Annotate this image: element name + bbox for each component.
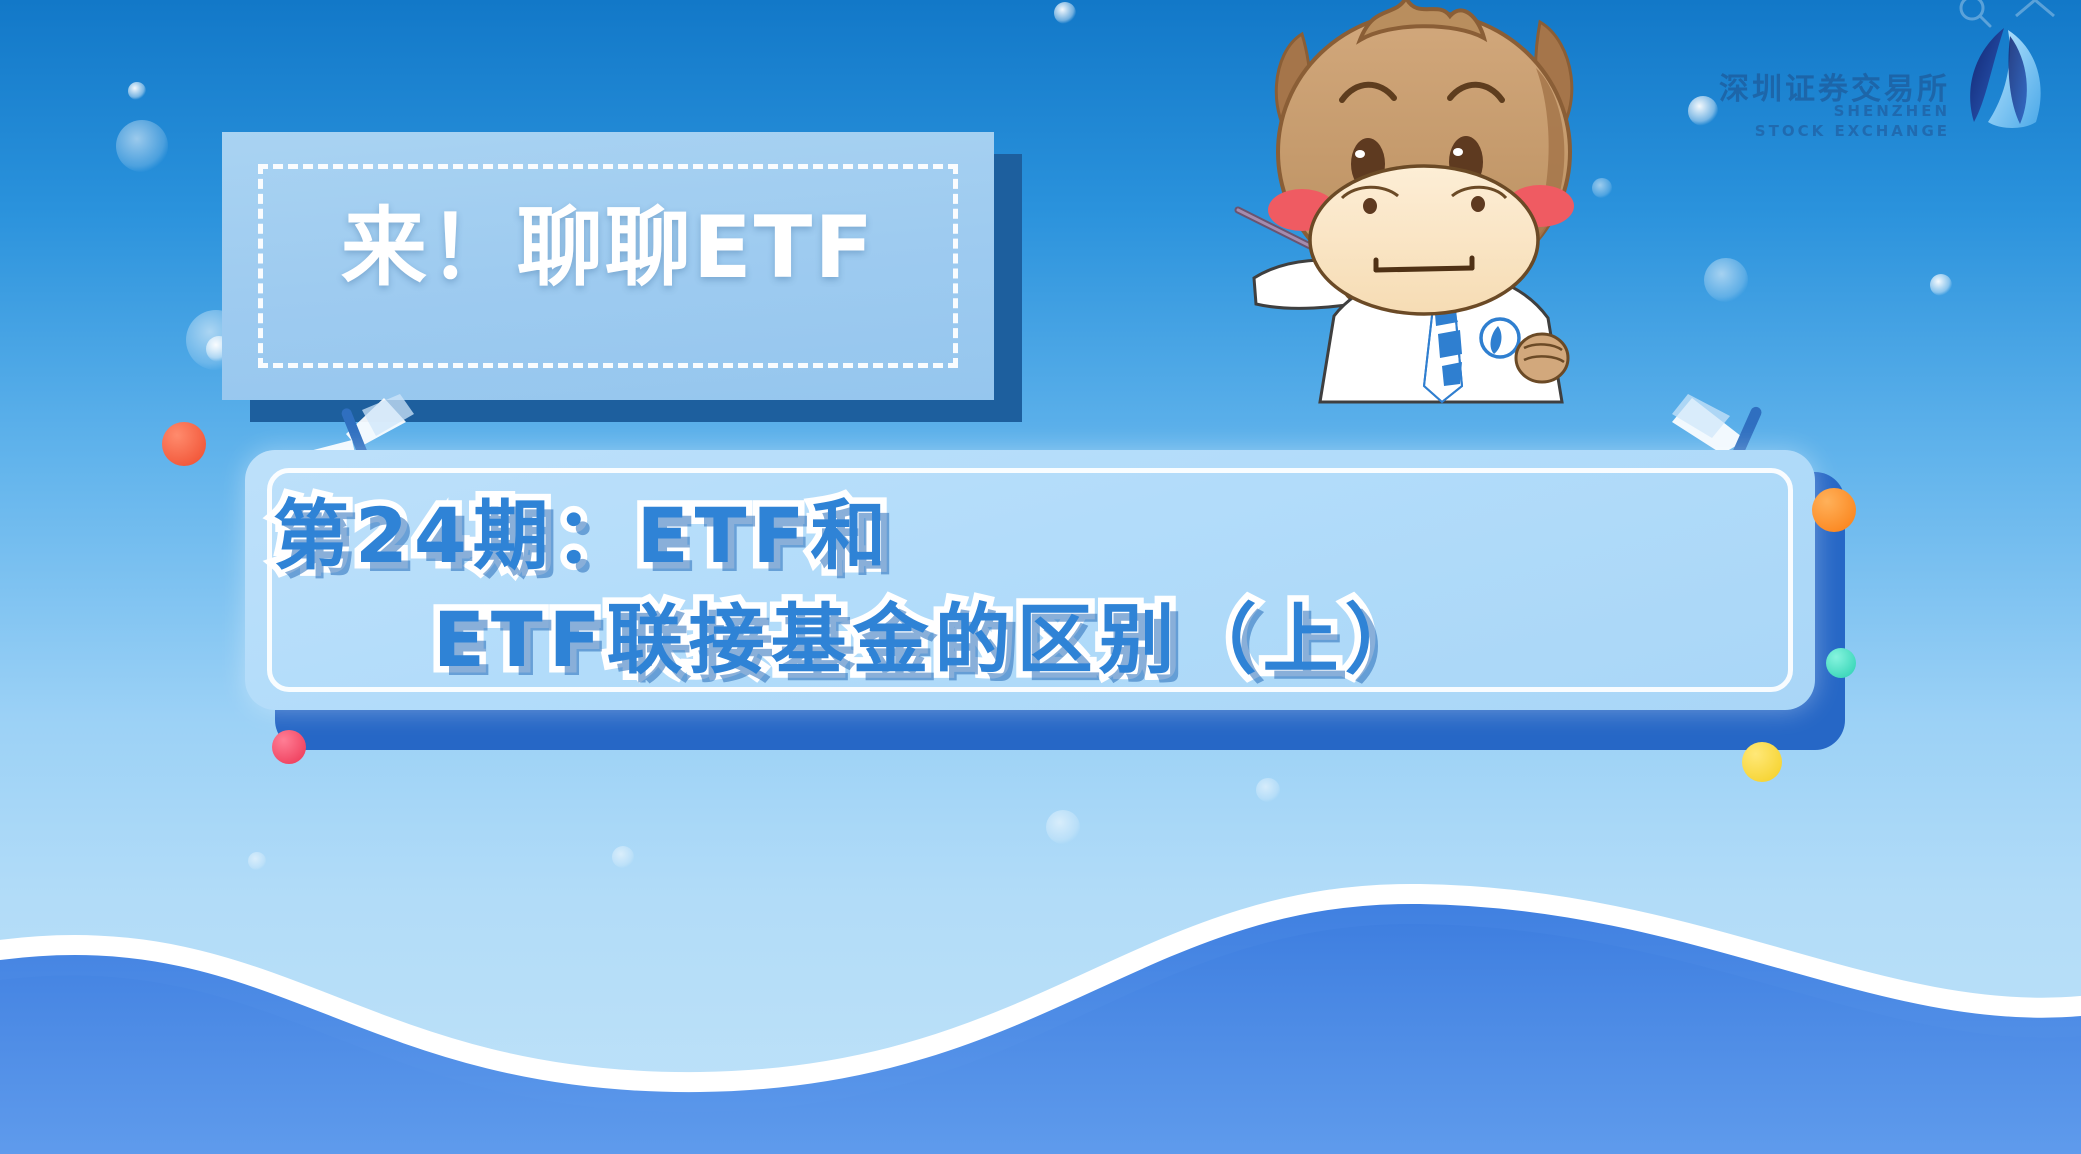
logo-english-line1: SHENZHEN (1700, 102, 1950, 120)
episode-title-line-2: ETF联接基金的区别（上） (433, 578, 1427, 688)
episode-title-line-1: 第24期：ETF和 (273, 474, 892, 584)
mascot-badge (1481, 319, 1519, 357)
speech-bubble: 来！聊聊ETF (222, 132, 1022, 432)
episode-title-card: 第24期：ETF和 ETF联接基金的区别（上） (245, 450, 1845, 750)
logo-leaf-mark (1958, 26, 2050, 138)
decor-dot-right-orange (1812, 488, 1856, 532)
shenzhen-stock-exchange-logo: 深圳证券交易所 SHENZHEN STOCK EXCHANGE (1700, 22, 2060, 142)
mascot-right-hand (1516, 334, 1568, 382)
speech-bubble-text: 来！聊聊ETF (222, 178, 994, 318)
decor-dot-bottom-left-pink (272, 730, 306, 764)
bokeh-bubble (1256, 778, 1280, 802)
mascot-ox-teacher (1210, 0, 1630, 452)
bokeh-bubble (1046, 810, 1080, 844)
bokeh-bubble (128, 82, 146, 100)
bokeh-bubble (1054, 2, 1076, 24)
decor-dot-right-teal (1826, 648, 1856, 678)
bokeh-bubble (116, 120, 168, 172)
bottom-wave (0, 854, 2081, 1154)
search-icon[interactable] (1952, 0, 1998, 36)
title-card-scene: 深圳证券交易所 SHENZHEN STOCK EXCHANGE (0, 0, 2081, 1154)
share-icon[interactable] (2010, 0, 2060, 34)
bokeh-bubble (1704, 258, 1748, 302)
decor-dot-bottom-right-yellow (1742, 742, 1782, 782)
decor-dot-left-red (162, 422, 206, 466)
bokeh-bubble (1930, 274, 1952, 296)
logo-english-line2: STOCK EXCHANGE (1700, 122, 1950, 140)
